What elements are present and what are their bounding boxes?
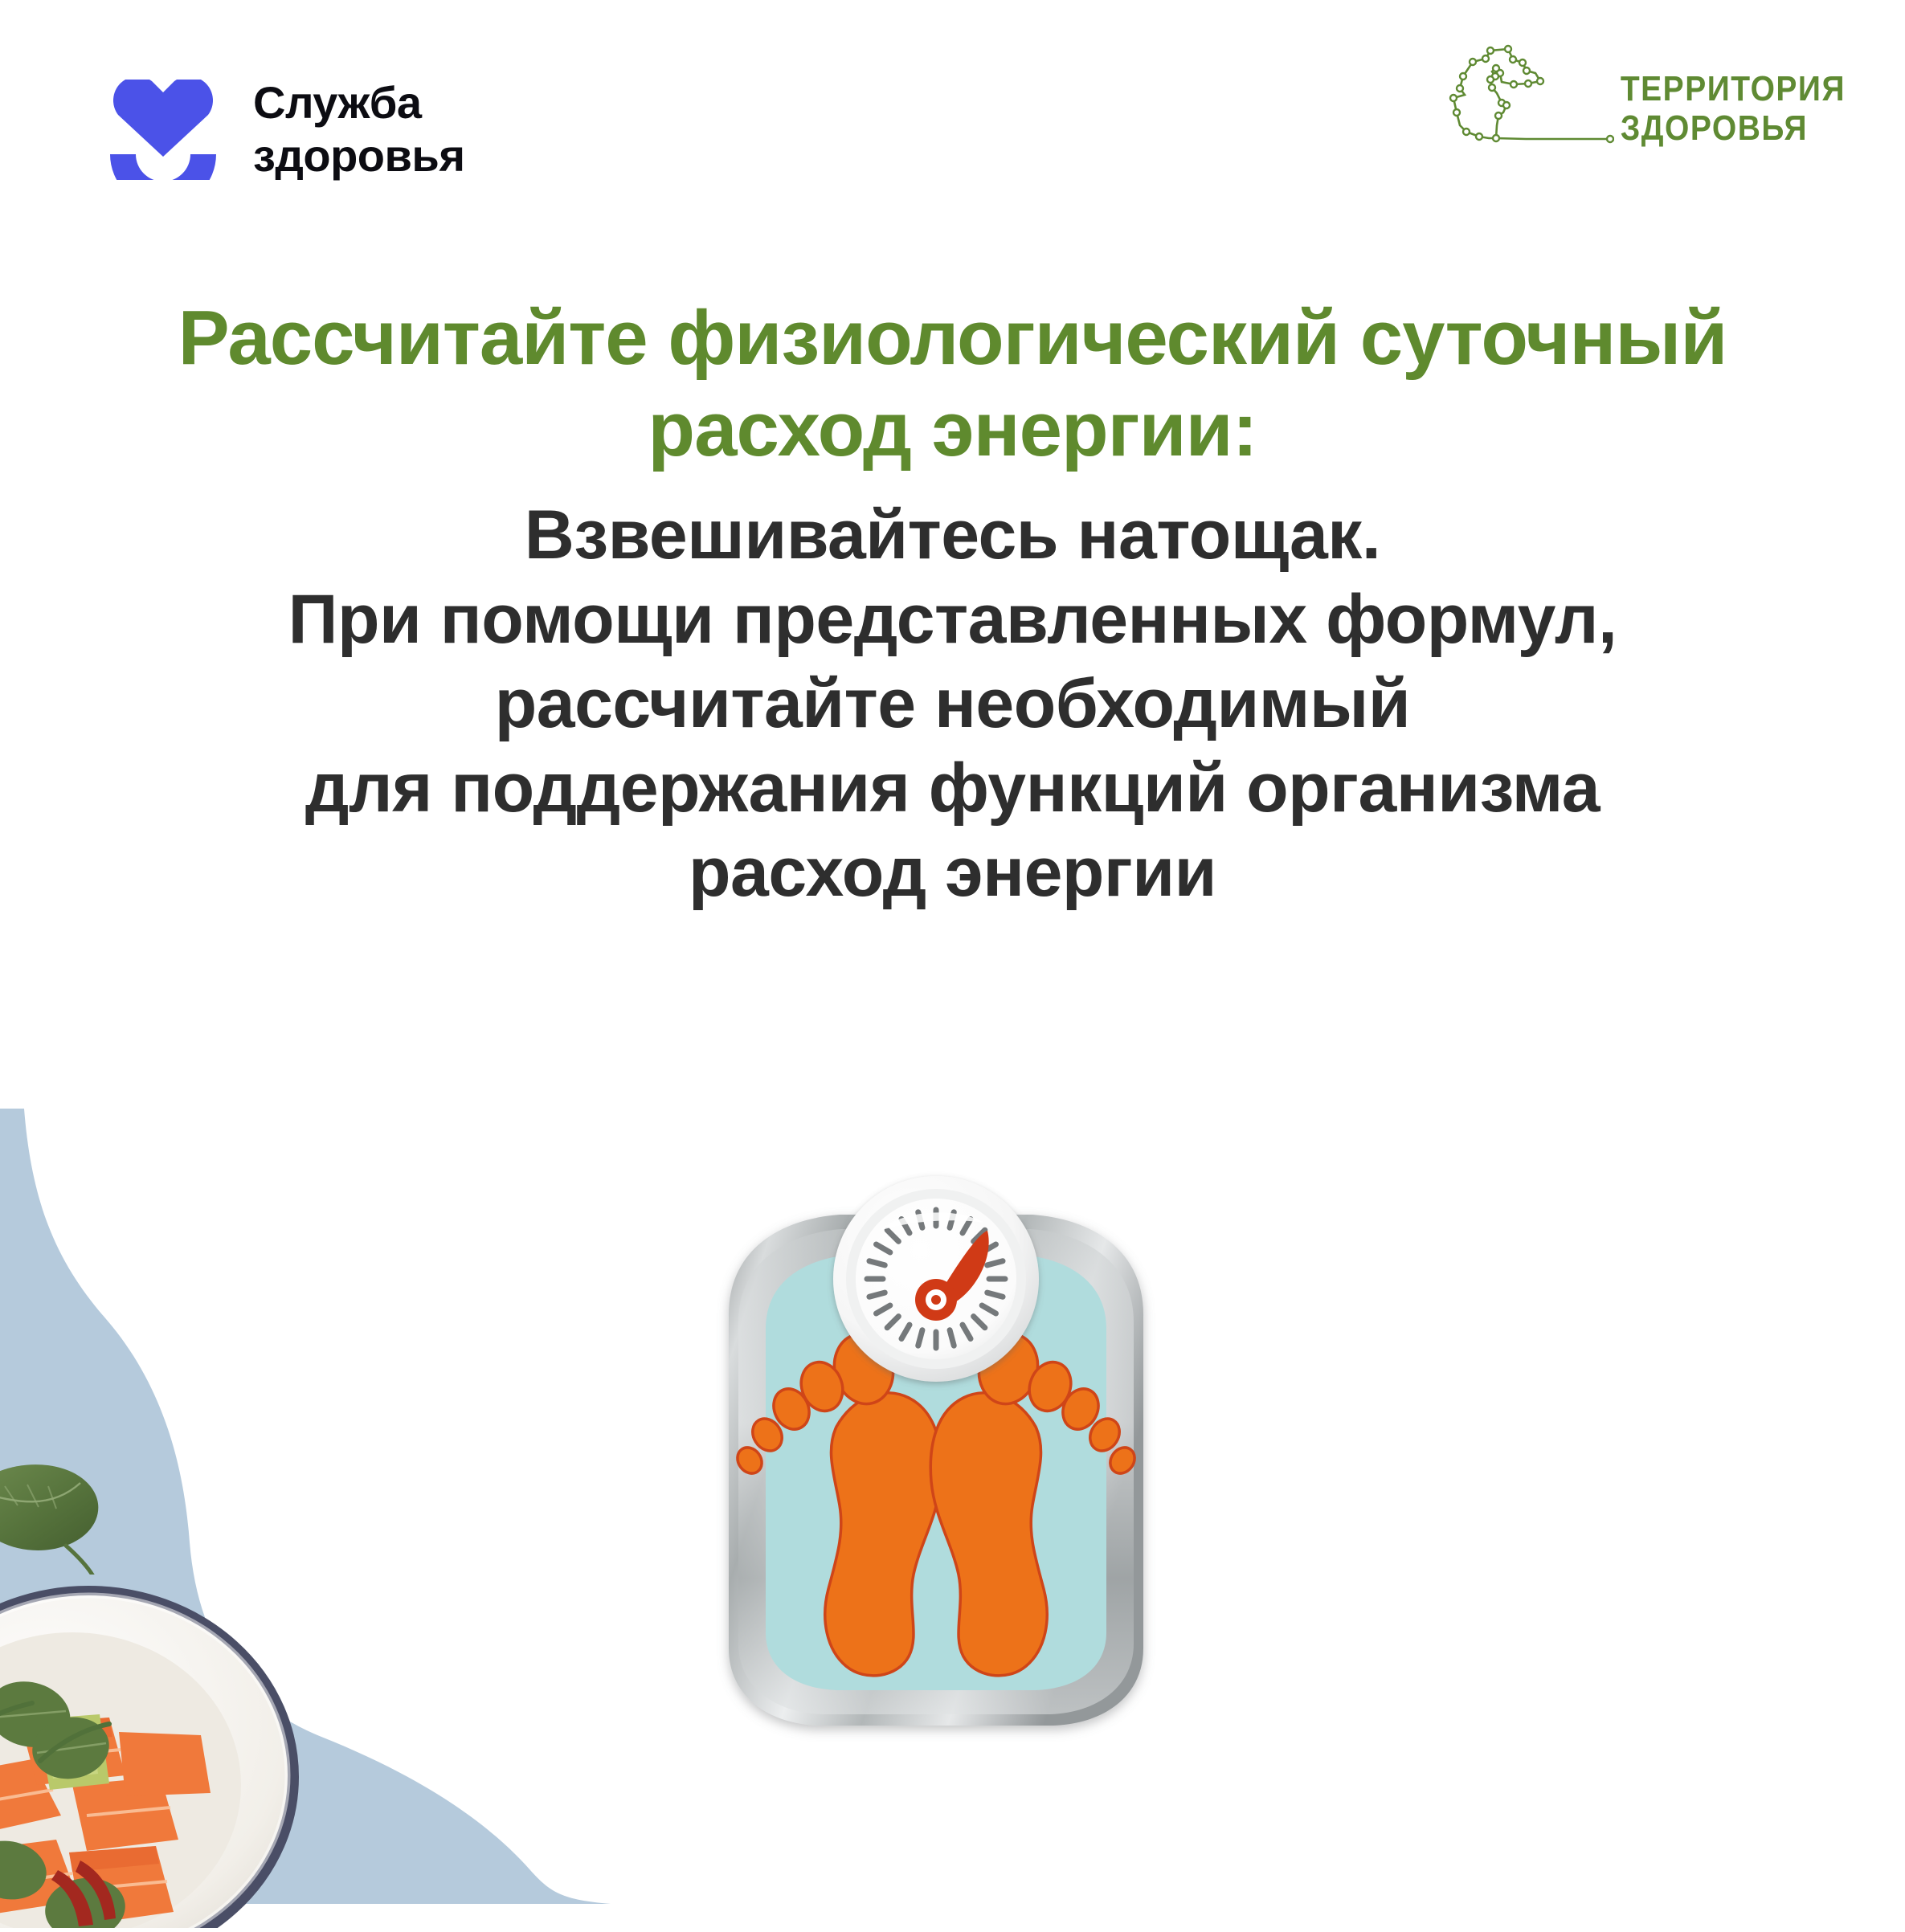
page-body-text: Взвешивайтесь натощак. При помощи предст… xyxy=(96,493,1809,915)
region-map-outline-icon xyxy=(1445,42,1614,166)
partner-logo: ТЕРРИТОРИЯ ЗДОРОВЬЯ xyxy=(1445,42,1846,166)
partner-name-line-1: ТЕРРИТОРИЯ xyxy=(1621,71,1846,107)
spinach-leaf-icon xyxy=(0,1446,153,1575)
region-map-svg xyxy=(1445,42,1614,166)
bathroom-scale-svg xyxy=(679,1157,1193,1751)
partner-name: ТЕРРИТОРИЯ ЗДОРОВЬЯ xyxy=(1621,67,1846,142)
partner-name-line-2: ЗДОРОВЬЯ xyxy=(1621,111,1846,146)
page-title: Рассчитайте физиологический суточный рас… xyxy=(96,292,1809,476)
salmon-salad-bowl-icon xyxy=(0,1575,329,1928)
heart-smile-icon xyxy=(107,80,219,180)
brand-name: Служба здоровья xyxy=(253,76,465,182)
salad-svg xyxy=(0,1575,329,1928)
leaf-svg xyxy=(0,1446,153,1575)
copy-block: Рассчитайте физиологический суточный рас… xyxy=(0,292,1905,915)
brand-logo: Служба здоровья xyxy=(107,76,465,182)
bathroom-scale-icon xyxy=(679,1157,1193,1751)
heart-smile-svg xyxy=(107,80,219,180)
